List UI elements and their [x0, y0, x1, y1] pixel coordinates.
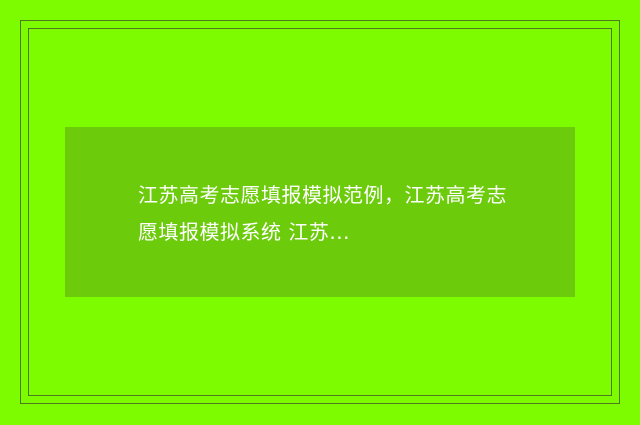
content-panel: 江苏高考志愿填报模拟范例，江苏高考志愿填报模拟系统 江苏...	[65, 127, 575, 297]
page-root: 江苏高考志愿填报模拟范例，江苏高考志愿填报模拟系统 江苏...	[0, 0, 640, 425]
page-title: 江苏高考志愿填报模拟范例，江苏高考志愿填报模拟系统 江苏...	[138, 177, 518, 251]
